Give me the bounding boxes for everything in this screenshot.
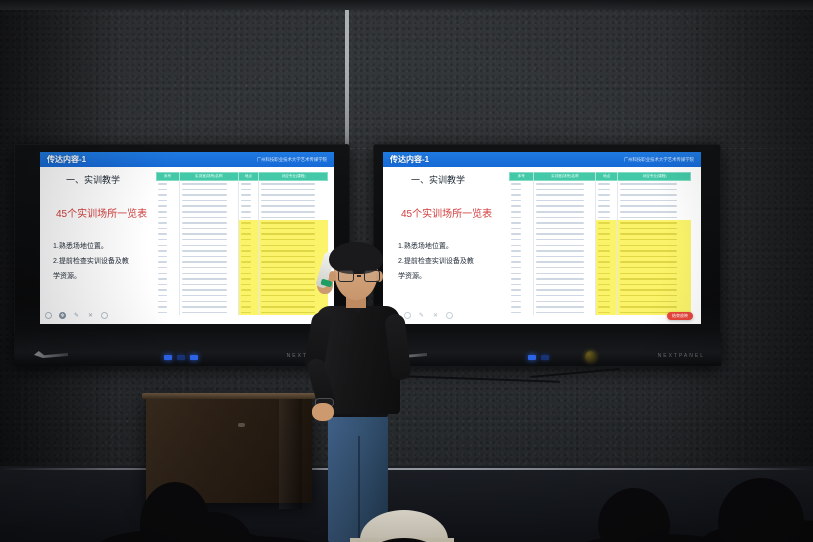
- slide-header-org: 广州科技职业技术大学艺术传媒学院: [624, 157, 694, 163]
- cell-text-placeholder: [620, 233, 677, 235]
- cell-text-placeholder: [598, 306, 609, 308]
- cell-text-placeholder: [511, 189, 521, 191]
- podium-fitting: [238, 423, 245, 427]
- cell-text-placeholder: [182, 200, 227, 202]
- cell-text-placeholder: [158, 228, 167, 230]
- cell-text-placeholder: [241, 183, 252, 185]
- cell-text-placeholder: [511, 228, 521, 230]
- cell-text-placeholder: [241, 306, 252, 308]
- cell-text-placeholder: [598, 211, 609, 213]
- cell-text-placeholder: [158, 312, 167, 314]
- cell-text-placeholder: [241, 301, 252, 303]
- circle-outline-icon[interactable]: [45, 312, 52, 319]
- cell-text-placeholder: [158, 306, 167, 308]
- slide-bullet-2: 2.提前检查实训设备及教: [53, 256, 129, 266]
- cell-text-placeholder: [536, 250, 583, 252]
- cell-text-placeholder: [620, 289, 677, 291]
- cell-text-placeholder: [536, 273, 583, 275]
- tv-brand-text: NEXTPANEL: [658, 353, 705, 359]
- cell-text-placeholder: [598, 256, 609, 258]
- cell-text-placeholder: [241, 189, 252, 191]
- cell-text-placeholder: [158, 295, 167, 297]
- th-place: 地点: [596, 172, 618, 181]
- cell-text-placeholder: [620, 222, 677, 224]
- cell-text-placeholder: [158, 200, 167, 202]
- cell-text-placeholder: [241, 205, 252, 207]
- tv-brand-logo-icon: [34, 351, 68, 358]
- cell-text-placeholder: [511, 211, 521, 213]
- power-knob[interactable]: [585, 351, 596, 362]
- cell-text-placeholder: [158, 284, 167, 286]
- cell-text-placeholder: [511, 306, 521, 308]
- cell-text-placeholder: [261, 189, 315, 191]
- slide-header: 传达内容-1 广州科技职业技术大学艺术传媒学院: [40, 152, 334, 167]
- cell-text-placeholder: [536, 233, 583, 235]
- cell-text-placeholder: [241, 200, 252, 202]
- cell-text-placeholder: [598, 261, 609, 263]
- right-display-bezel: NEXTPANEL: [373, 332, 721, 366]
- cell-text-placeholder: [511, 222, 521, 224]
- cell-text-placeholder: [511, 194, 521, 196]
- cell-text-placeholder: [241, 261, 252, 263]
- slide-body: 一、实训教学 45个实训场所一览表 1.熟悉场地位置。 2.提前检查实训设备及教…: [383, 167, 701, 324]
- cell-text-placeholder: [620, 228, 677, 230]
- close-icon[interactable]: ✕: [432, 312, 439, 319]
- cell-text-placeholder: [620, 301, 677, 303]
- cell-text-placeholder: [536, 205, 583, 207]
- cell-text-placeholder: [511, 278, 521, 280]
- slide-section-title: 一、实训教学: [411, 173, 465, 186]
- cell-text-placeholder: [158, 273, 167, 275]
- cell-text-placeholder: [182, 289, 227, 291]
- table-cell: [239, 310, 260, 316]
- cell-text-placeholder: [182, 205, 227, 207]
- cell-text-placeholder: [182, 273, 227, 275]
- cell-text-placeholder: [158, 301, 167, 303]
- presentation-room-scene: 传达内容-1 广州科技职业技术大学艺术传媒学院 一、实训教学 45个实训场所一览…: [0, 0, 813, 542]
- cell-text-placeholder: [241, 250, 252, 252]
- cell-text-placeholder: [241, 239, 252, 241]
- more-circle-icon[interactable]: [101, 312, 108, 319]
- cell-text-placeholder: [536, 256, 583, 258]
- th-major: 对应专业(课程): [618, 172, 691, 181]
- cell-text-placeholder: [241, 295, 252, 297]
- cell-text-placeholder: [158, 189, 167, 191]
- slide-left: 传达内容-1 广州科技职业技术大学艺术传媒学院 一、实训教学 45个实训场所一览…: [40, 152, 334, 324]
- cell-text-placeholder: [598, 183, 609, 185]
- cell-text-placeholder: [261, 222, 315, 224]
- table-cell: [534, 310, 596, 316]
- cell-text-placeholder: [511, 256, 521, 258]
- cell-text-placeholder: [598, 273, 609, 275]
- cell-text-placeholder: [511, 267, 521, 269]
- th-index: 序号: [156, 172, 180, 181]
- cell-text-placeholder: [241, 233, 252, 235]
- cell-text-placeholder: [511, 205, 521, 207]
- cell-text-placeholder: [158, 222, 167, 224]
- cell-text-placeholder: [598, 289, 609, 291]
- cell-text-placeholder: [620, 306, 677, 308]
- cell-text-placeholder: [182, 183, 227, 185]
- more-circle-icon[interactable]: [446, 312, 453, 319]
- cell-text-placeholder: [598, 205, 609, 207]
- cell-text-placeholder: [158, 278, 167, 280]
- cell-text-placeholder: [620, 183, 677, 185]
- cell-text-placeholder: [536, 228, 583, 230]
- cell-text-placeholder: [598, 295, 609, 297]
- th-name: 实训室(场所)名称: [180, 172, 238, 181]
- presenter: [296, 240, 416, 542]
- cell-text-placeholder: [241, 211, 252, 213]
- led-indicator: [190, 355, 198, 360]
- cell-text-placeholder: [241, 289, 252, 291]
- cell-text-placeholder: [158, 250, 167, 252]
- cell-text-placeholder: [536, 194, 583, 196]
- cell-text-placeholder: [241, 267, 252, 269]
- end-show-badge[interactable]: 结束放映: [667, 312, 693, 320]
- cell-text-placeholder: [241, 217, 252, 219]
- cell-text-placeholder: [598, 278, 609, 280]
- cell-text-placeholder: [536, 245, 583, 247]
- slide-section-title: 一、实训教学: [66, 173, 120, 186]
- venue-table-header: 序号 实训室(场所)名称 地点 对应专业(课程): [509, 172, 691, 181]
- cell-text-placeholder: [241, 222, 252, 224]
- slide-bullet-3: 学资源。: [53, 271, 81, 281]
- cell-text-placeholder: [261, 200, 315, 202]
- cell-text-placeholder: [536, 306, 583, 308]
- cell-text-placeholder: [158, 289, 167, 291]
- slide-right: 传达内容-1 广州科技职业技术大学艺术传媒学院 一、实训教学 45个实训场所一览…: [383, 152, 701, 324]
- cell-text-placeholder: [536, 211, 583, 213]
- cell-text-placeholder: [511, 273, 521, 275]
- cell-text-placeholder: [511, 183, 521, 185]
- table-cell: [596, 310, 618, 316]
- cell-text-placeholder: [182, 211, 227, 213]
- cell-text-placeholder: [182, 194, 227, 196]
- led-indicator: [164, 355, 172, 360]
- cell-text-placeholder: [511, 312, 521, 314]
- slide-header-org: 广州科技职业技术大学艺术传媒学院: [257, 157, 327, 163]
- cell-text-placeholder: [536, 183, 583, 185]
- cell-text-placeholder: [620, 245, 677, 247]
- cell-text-placeholder: [620, 284, 677, 286]
- cell-text-placeholder: [598, 189, 609, 191]
- cell-text-placeholder: [598, 233, 609, 235]
- cell-text-placeholder: [620, 267, 677, 269]
- cell-text-placeholder: [261, 217, 315, 219]
- presenter-jeans-seam: [358, 436, 360, 542]
- cell-text-placeholder: [182, 256, 227, 258]
- cell-text-placeholder: [620, 250, 677, 252]
- cell-text-placeholder: [182, 312, 227, 314]
- presenter-ear: [329, 271, 336, 282]
- cell-text-placeholder: [182, 301, 227, 303]
- cell-text-placeholder: [511, 261, 521, 263]
- table-cell: [509, 310, 534, 316]
- led-indicator: [528, 355, 536, 360]
- cell-text-placeholder: [598, 228, 609, 230]
- th-name: 实训室(场所)名称: [534, 172, 596, 181]
- cell-text-placeholder: [536, 200, 583, 202]
- slide-red-title: 45个实训场所一览表: [56, 205, 147, 220]
- cell-text-placeholder: [261, 194, 315, 196]
- cell-text-placeholder: [536, 261, 583, 263]
- cell-text-placeholder: [620, 278, 677, 280]
- cell-text-placeholder: [598, 217, 609, 219]
- glasses-bridge: [357, 275, 361, 276]
- cell-text-placeholder: [536, 284, 583, 286]
- table-cell: [180, 310, 238, 316]
- cell-text-placeholder: [620, 261, 677, 263]
- cell-text-placeholder: [241, 284, 252, 286]
- cell-text-placeholder: [620, 273, 677, 275]
- cell-text-placeholder: [620, 205, 677, 207]
- cell-text-placeholder: [511, 245, 521, 247]
- slide-toolbar[interactable]: ✻ ✎ ✕: [45, 312, 108, 319]
- venue-table: 序号 实训室(场所)名称 地点 对应专业(课程): [509, 172, 691, 322]
- glasses-lens: [338, 270, 354, 282]
- cell-text-placeholder: [261, 233, 315, 235]
- slide-header: 传达内容-1 广州科技职业技术大学艺术传媒学院: [383, 152, 701, 167]
- cell-text-placeholder: [620, 239, 677, 241]
- pen-icon[interactable]: ✎: [418, 312, 425, 319]
- cell-text-placeholder: [182, 306, 227, 308]
- cell-text-placeholder: [261, 205, 315, 207]
- cell-text-placeholder: [158, 256, 167, 258]
- cell-text-placeholder: [598, 200, 609, 202]
- cell-text-placeholder: [598, 267, 609, 269]
- cell-text-placeholder: [511, 284, 521, 286]
- venue-table-header: 序号 实训室(场所)名称 地点 对应专业(课程): [156, 172, 328, 181]
- left-display-screen[interactable]: 传达内容-1 广州科技职业技术大学艺术传媒学院 一、实训教学 45个实训场所一览…: [40, 152, 334, 324]
- presenter-left-hand: [312, 403, 334, 421]
- cell-text-placeholder: [182, 261, 227, 263]
- cell-text-placeholder: [182, 245, 227, 247]
- cell-text-placeholder: [241, 245, 252, 247]
- cell-text-placeholder: [511, 289, 521, 291]
- cell-text-placeholder: [598, 239, 609, 241]
- slide-bullet-1: 1.熟悉场地位置。: [53, 241, 108, 251]
- ceiling-strip: [0, 0, 813, 10]
- cell-text-placeholder: [536, 189, 583, 191]
- cell-text-placeholder: [261, 211, 315, 213]
- cell-text-placeholder: [158, 239, 167, 241]
- cell-text-placeholder: [598, 284, 609, 286]
- cell-text-placeholder: [182, 250, 227, 252]
- cell-text-placeholder: [241, 312, 252, 314]
- cell-text-placeholder: [511, 301, 521, 303]
- cell-text-placeholder: [241, 273, 252, 275]
- cell-text-placeholder: [536, 295, 583, 297]
- cell-text-placeholder: [158, 211, 167, 213]
- cell-text-placeholder: [536, 217, 583, 219]
- cell-text-placeholder: [620, 194, 677, 196]
- cell-text-placeholder: [536, 222, 583, 224]
- cell-text-placeholder: [598, 312, 609, 314]
- cell-text-placeholder: [158, 183, 167, 185]
- cell-text-placeholder: [598, 250, 609, 252]
- wall-seam-light: [345, 0, 349, 150]
- left-display-indicators: [164, 355, 198, 360]
- cell-text-placeholder: [182, 217, 227, 219]
- pen-icon[interactable]: ✎: [73, 312, 80, 319]
- cell-text-placeholder: [536, 239, 583, 241]
- cell-text-placeholder: [536, 312, 583, 314]
- slide-header-title: 传达内容-1: [47, 154, 86, 165]
- table-cell: [156, 310, 180, 316]
- cell-text-placeholder: [158, 245, 167, 247]
- cell-text-placeholder: [182, 267, 227, 269]
- cell-text-placeholder: [158, 261, 167, 263]
- slide-header-title: 传达内容-1: [390, 154, 429, 165]
- table-row: [509, 310, 691, 316]
- cell-text-placeholder: [620, 295, 677, 297]
- slide-red-title: 45个实训场所一览表: [401, 205, 492, 220]
- cell-text-placeholder: [511, 233, 521, 235]
- cell-text-placeholder: [511, 217, 521, 219]
- cell-text-placeholder: [182, 278, 227, 280]
- cell-text-placeholder: [536, 301, 583, 303]
- cell-text-placeholder: [158, 267, 167, 269]
- cell-text-placeholder: [158, 194, 167, 196]
- cell-text-placeholder: [536, 278, 583, 280]
- cell-text-placeholder: [598, 245, 609, 247]
- slide-body: 一、实训教学 45个实训场所一览表 1.熟悉场地位置。 2.提前检查实训设备及教…: [40, 167, 334, 324]
- cell-text-placeholder: [536, 289, 583, 291]
- cell-text-placeholder: [598, 301, 609, 303]
- venue-table-rows: [509, 181, 691, 315]
- cell-text-placeholder: [620, 211, 677, 213]
- cell-text-placeholder: [182, 222, 227, 224]
- cell-text-placeholder: [182, 233, 227, 235]
- cell-text-placeholder: [620, 217, 677, 219]
- glasses-icon: [338, 270, 380, 282]
- cell-text-placeholder: [620, 256, 677, 258]
- th-major: 对应专业(课程): [259, 172, 328, 181]
- cell-text-placeholder: [261, 228, 315, 230]
- cell-text-placeholder: [511, 250, 521, 252]
- cell-text-placeholder: [241, 256, 252, 258]
- cell-text-placeholder: [182, 228, 227, 230]
- cell-text-placeholder: [511, 200, 521, 202]
- cell-text-placeholder: [158, 233, 167, 235]
- cell-text-placeholder: [158, 205, 167, 207]
- cell-text-placeholder: [182, 189, 227, 191]
- led-indicator: [177, 355, 185, 360]
- glasses-lens: [364, 270, 380, 282]
- cell-text-placeholder: [158, 217, 167, 219]
- led-indicator: [541, 355, 549, 360]
- cell-text-placeholder: [261, 183, 315, 185]
- close-icon[interactable]: ✕: [87, 312, 94, 319]
- cell-text-placeholder: [620, 200, 677, 202]
- cell-text-placeholder: [182, 295, 227, 297]
- th-index: 序号: [509, 172, 534, 181]
- right-display-screen[interactable]: 传达内容-1 广州科技职业技术大学艺术传媒学院 一、实训教学 45个实训场所一览…: [383, 152, 701, 324]
- cell-text-placeholder: [241, 228, 252, 230]
- cell-text-placeholder: [598, 194, 609, 196]
- gear-icon[interactable]: ✻: [59, 312, 66, 319]
- th-place: 地点: [239, 172, 260, 181]
- cell-text-placeholder: [241, 194, 252, 196]
- cell-text-placeholder: [620, 189, 677, 191]
- cell-text-placeholder: [182, 284, 227, 286]
- right-display[interactable]: 传达内容-1 广州科技职业技术大学艺术传媒学院 一、实训教学 45个实训场所一览…: [373, 144, 721, 366]
- cell-text-placeholder: [511, 295, 521, 297]
- cell-text-placeholder: [536, 267, 583, 269]
- cell-text-placeholder: [511, 239, 521, 241]
- cell-text-placeholder: [182, 239, 227, 241]
- cell-text-placeholder: [241, 278, 252, 280]
- cell-text-placeholder: [598, 222, 609, 224]
- right-display-indicators: [528, 355, 549, 360]
